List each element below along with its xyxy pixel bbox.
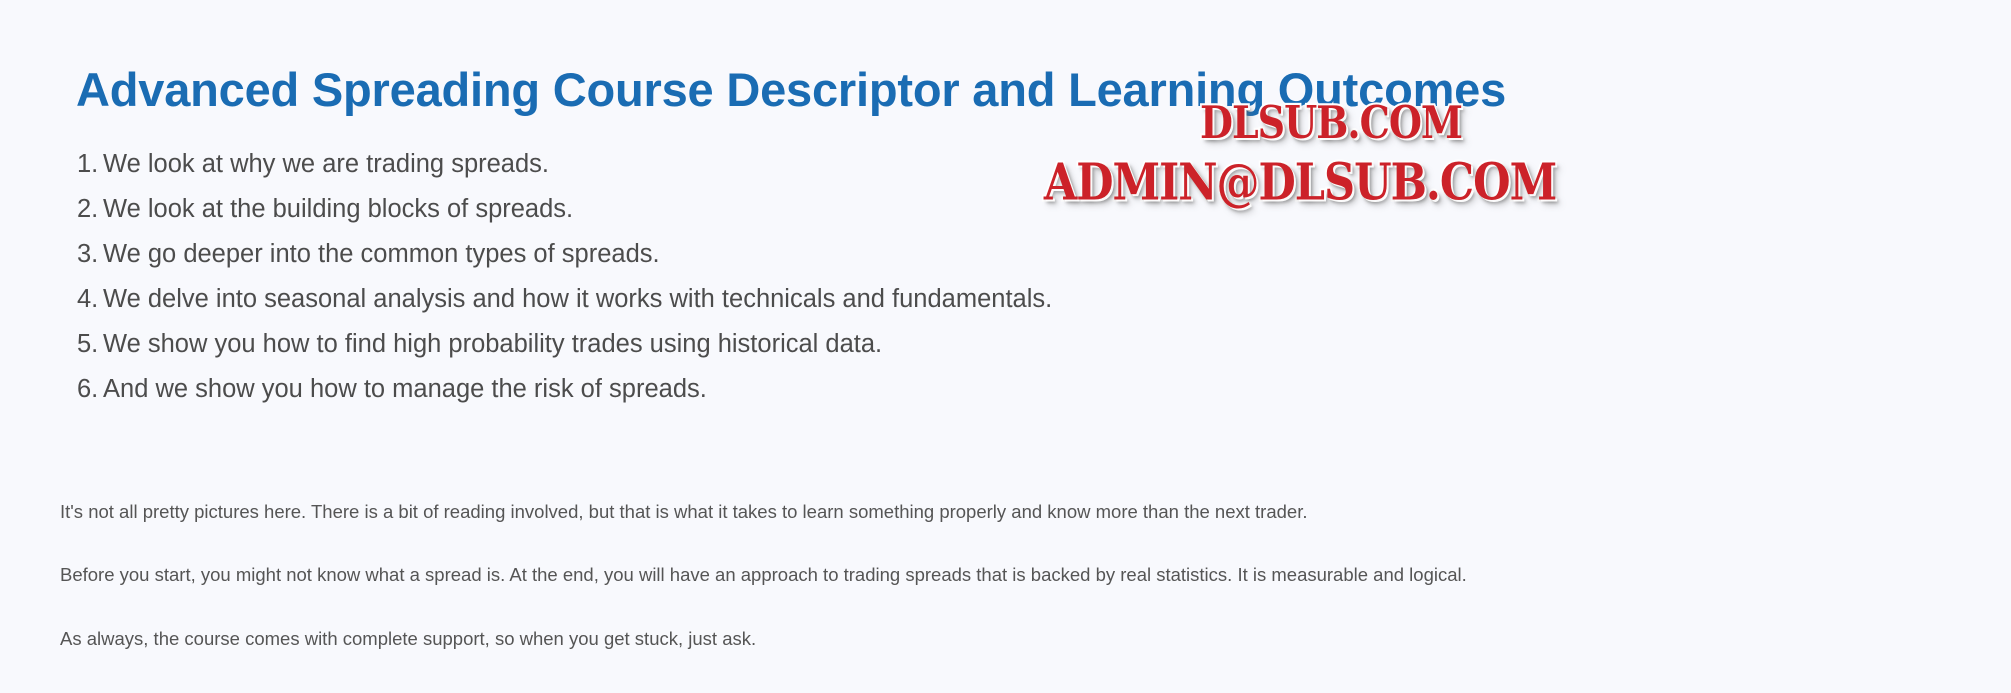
notes-section: It's not all pretty pictures here. There… bbox=[60, 484, 2000, 693]
list-item: 1. We look at why we are trading spreads… bbox=[77, 152, 1327, 197]
list-item-number: 6. bbox=[77, 377, 103, 403]
course-descriptor-page: Advanced Spreading Course Descriptor and… bbox=[0, 0, 2011, 668]
list-item: 6. And we show you how to manage the ris… bbox=[77, 377, 1327, 422]
list-item: 4. We delve into seasonal analysis and h… bbox=[77, 287, 1327, 332]
list-item-text: We look at the building blocks of spread… bbox=[103, 197, 573, 223]
page-title: Advanced Spreading Course Descriptor and… bbox=[76, 63, 1506, 117]
list-item: 3. We go deeper into the common types of… bbox=[77, 242, 1327, 287]
note-paragraph: Before you start, you might not know wha… bbox=[60, 566, 2000, 611]
list-item-text: We go deeper into the common types of sp… bbox=[103, 242, 660, 268]
note-paragraph: It's not all pretty pictures here. There… bbox=[60, 503, 2000, 548]
list-item-number: 1. bbox=[77, 152, 103, 178]
list-item-number: 4. bbox=[77, 287, 103, 313]
list-item: 5. We show you how to find high probabil… bbox=[77, 332, 1327, 377]
list-item-text: We show you how to find high probability… bbox=[103, 332, 882, 358]
list-item-text: We delve into seasonal analysis and how … bbox=[103, 287, 1052, 313]
list-item-number: 3. bbox=[77, 242, 103, 268]
list-item-text: And we show you how to manage the risk o… bbox=[103, 377, 707, 403]
list-item: 2. We look at the building blocks of spr… bbox=[77, 197, 1327, 242]
list-item-number: 5. bbox=[77, 332, 103, 358]
list-item-number: 2. bbox=[77, 197, 103, 223]
list-item-text: We look at why we are trading spreads. bbox=[103, 152, 549, 178]
learning-outcomes-list: 1. We look at why we are trading spreads… bbox=[37, 152, 1327, 422]
